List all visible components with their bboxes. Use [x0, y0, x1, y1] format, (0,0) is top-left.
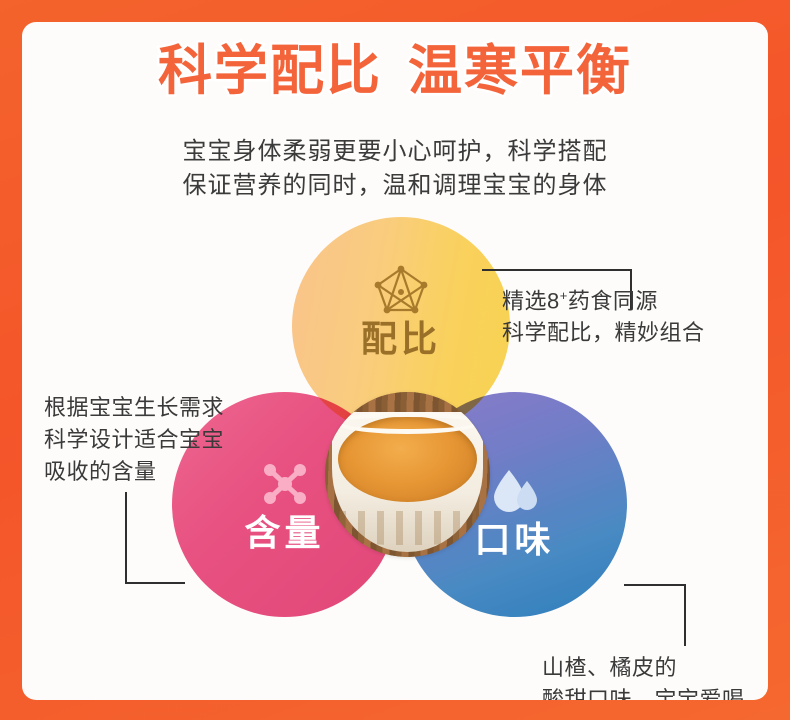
callout-left-line-1: 根据宝宝生长需求	[44, 392, 224, 424]
poster-card: 科学配比温寒平衡 宝宝身体柔弱更要小心呵护，科学搭配 保证营养的同时，温和调理宝…	[22, 22, 768, 700]
poster-root: 科学配比温寒平衡 宝宝身体柔弱更要小心呵护，科学搭配 保证营养的同时，温和调理宝…	[0, 0, 790, 720]
callout-top-right-post: 药食同源	[568, 288, 658, 313]
leader-line-left-horizontal	[125, 582, 185, 584]
callout-top-right: 精选8+药食同源 科学配比，精妙组合	[502, 280, 705, 349]
bowl-pattern	[339, 511, 476, 545]
headline-part-1: 科学配比	[158, 44, 382, 98]
subtitle: 宝宝身体柔弱更要小心呵护，科学搭配 保证营养的同时，温和调理宝宝的身体	[22, 135, 768, 203]
leader-line-bottom-right-vertical	[684, 584, 686, 646]
center-product-photo	[325, 392, 490, 557]
callout-bottom-right: 山楂、橘皮的 酸甜口味，宝宝爱喝	[542, 652, 745, 700]
callout-left: 根据宝宝生长需求 科学设计适合宝宝 吸收的含量	[44, 392, 224, 488]
leader-line-left-vertical	[125, 492, 127, 584]
callout-left-line-2: 科学设计适合宝宝	[44, 424, 224, 456]
callout-top-right-line-1: 精选8+药食同源	[502, 280, 705, 317]
page-title: 科学配比温寒平衡	[22, 44, 768, 98]
callout-bottom-right-line-1: 山楂、橘皮的	[542, 652, 745, 684]
subtitle-line-2: 保证营养的同时，温和调理宝宝的身体	[22, 169, 768, 203]
subtitle-line-1: 宝宝身体柔弱更要小心呵护，科学搭配	[22, 135, 768, 169]
callout-bottom-right-line-2: 酸甜口味，宝宝爱喝	[542, 684, 745, 700]
callout-left-line-3: 吸收的含量	[44, 456, 224, 488]
callout-top-right-superscript: +	[560, 288, 568, 303]
callout-top-right-pre: 精选8	[502, 288, 560, 313]
headline-part-2: 温寒平衡	[408, 44, 632, 98]
leader-line-top-right-horizontal	[482, 269, 632, 271]
callout-top-right-line-2: 科学配比，精妙组合	[502, 317, 705, 349]
leader-line-bottom-right-horizontal	[624, 584, 686, 586]
